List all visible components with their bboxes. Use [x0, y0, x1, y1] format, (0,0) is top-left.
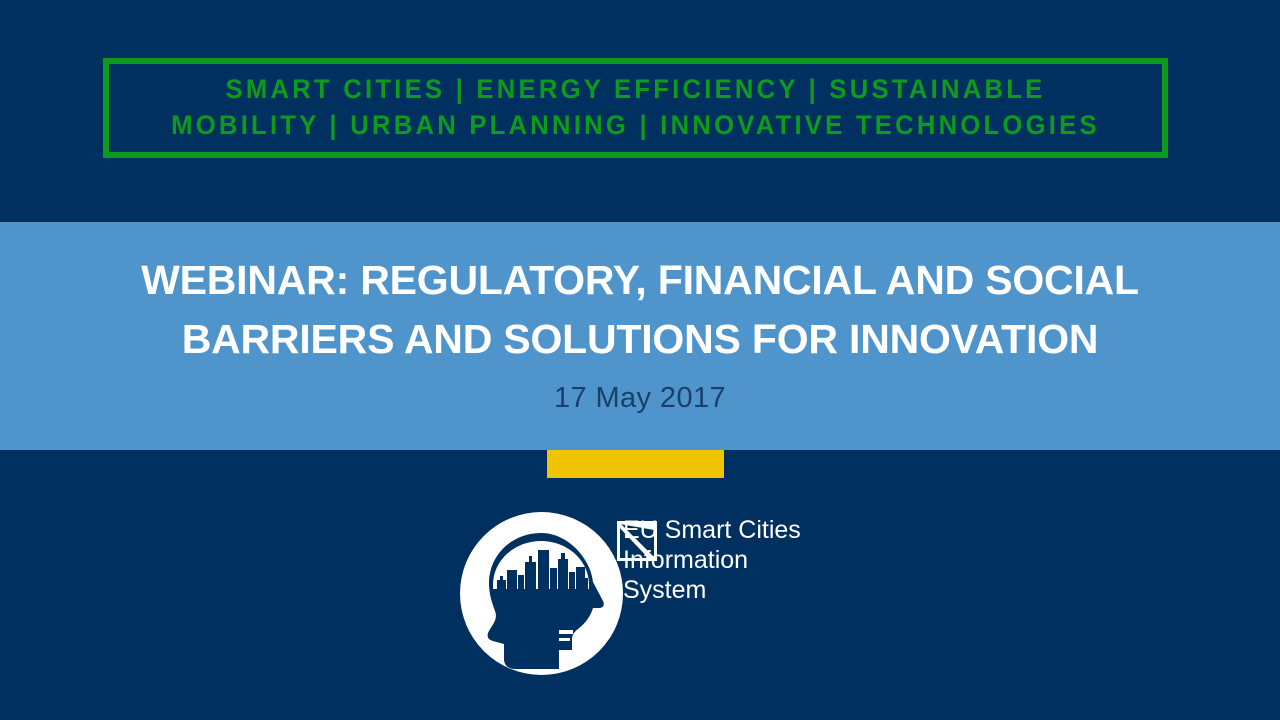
webinar-title: WEBINAR: REGULATORY, FINANCIAL AND SOCIA… [0, 251, 1280, 370]
topic-banner-text: SMART CITIES | ENERGY EFFICIENCY | SUSTA… [144, 72, 1127, 144]
logo-lockup: EU Smart Cities Information System [460, 512, 860, 680]
logo-line-3: System [617, 575, 867, 605]
head-with-city-skyline-icon [460, 512, 623, 675]
title-band: WEBINAR: REGULATORY, FINANCIAL AND SOCIA… [0, 222, 1280, 450]
presentation-slide: SMART CITIES | ENERGY EFFICIENCY | SUSTA… [0, 0, 1280, 720]
logo-wordmark: EU Smart Cities Information System [617, 515, 867, 605]
corner-notch-icon [617, 521, 657, 561]
topic-banner: SMART CITIES | ENERGY EFFICIENCY | SUSTA… [103, 58, 1168, 158]
accent-bar [547, 450, 724, 478]
webinar-date: 17 May 2017 [0, 382, 1280, 415]
